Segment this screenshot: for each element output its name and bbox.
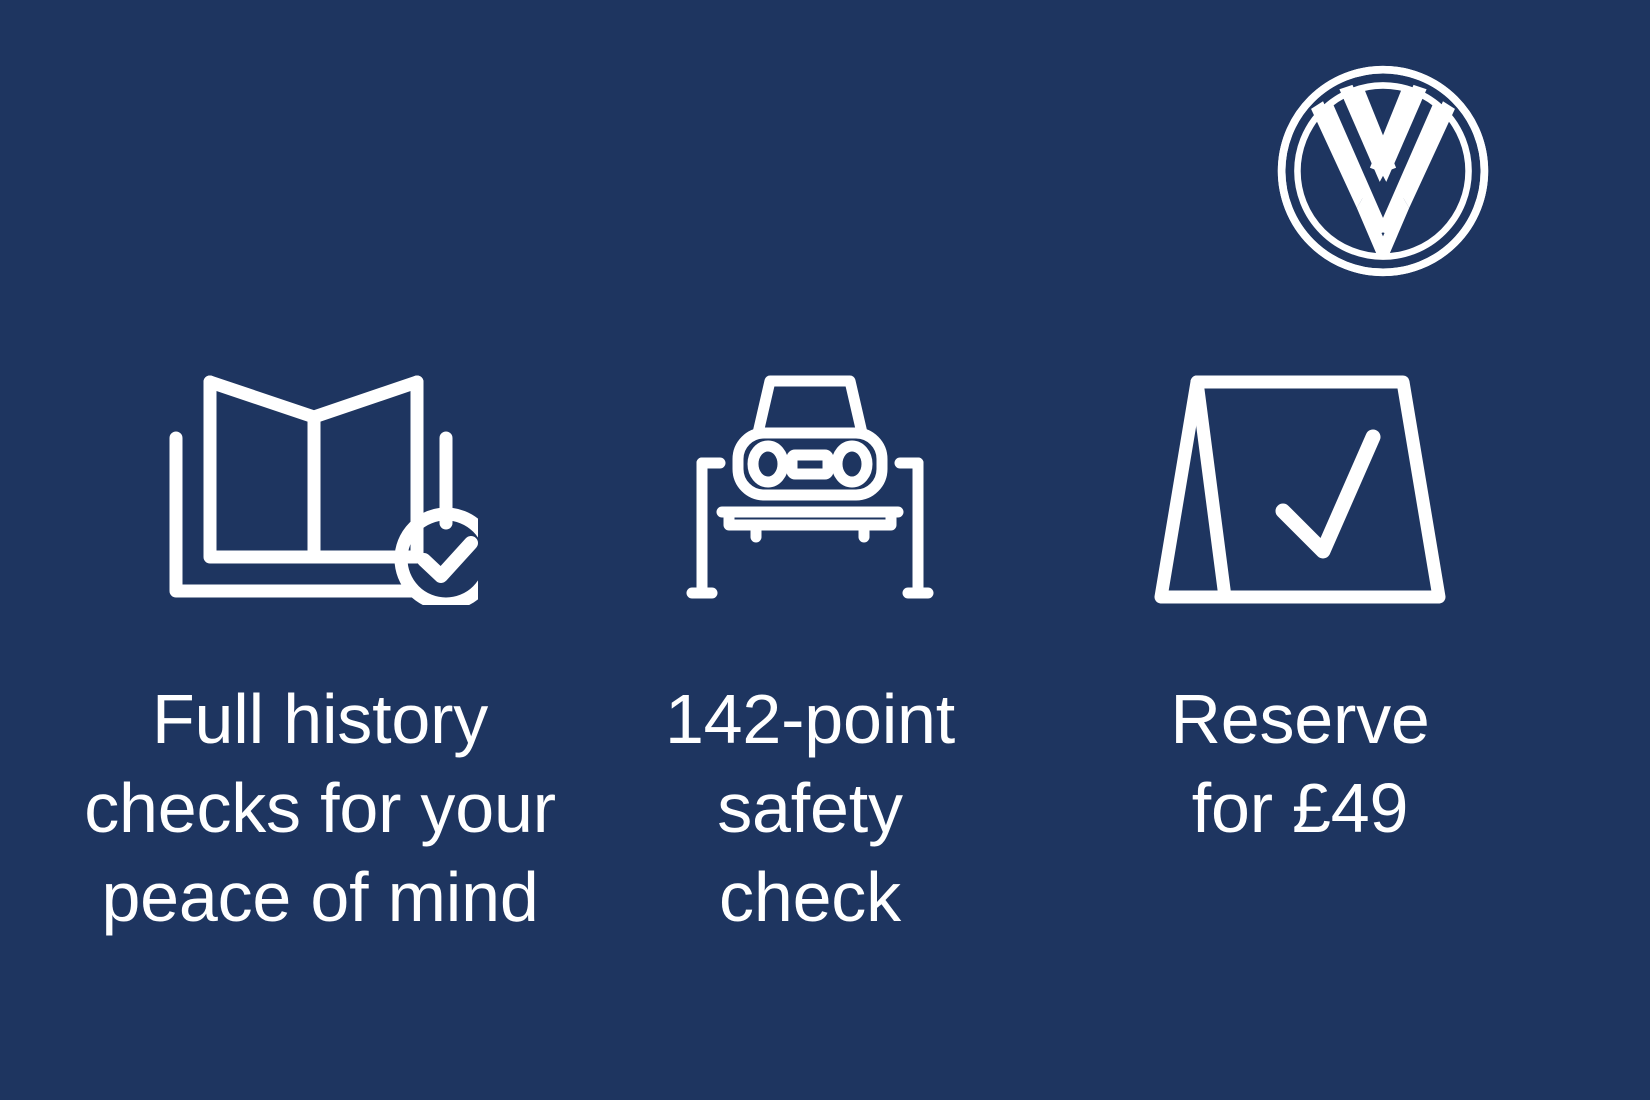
promo-banner: Full history checks for your peace of mi… bbox=[0, 0, 1650, 1100]
feature-row: Full history checks for your peace of mi… bbox=[0, 330, 1650, 942]
feature-label: Reserve for £49 bbox=[1170, 675, 1429, 853]
car-on-lift-icon bbox=[682, 330, 938, 605]
tent-check-icon bbox=[1151, 330, 1449, 605]
volkswagen-logo bbox=[1274, 62, 1492, 280]
feature-label: Full history checks for your peace of mi… bbox=[84, 675, 556, 942]
feature-label: 142-point safety check bbox=[665, 675, 955, 942]
feature-item-safety-check: 142-point safety check bbox=[610, 330, 1010, 942]
feature-item-history: Full history checks for your peace of mi… bbox=[30, 330, 610, 942]
open-book-check-icon bbox=[162, 330, 478, 605]
feature-item-reserve: Reserve for £49 bbox=[1020, 330, 1580, 853]
